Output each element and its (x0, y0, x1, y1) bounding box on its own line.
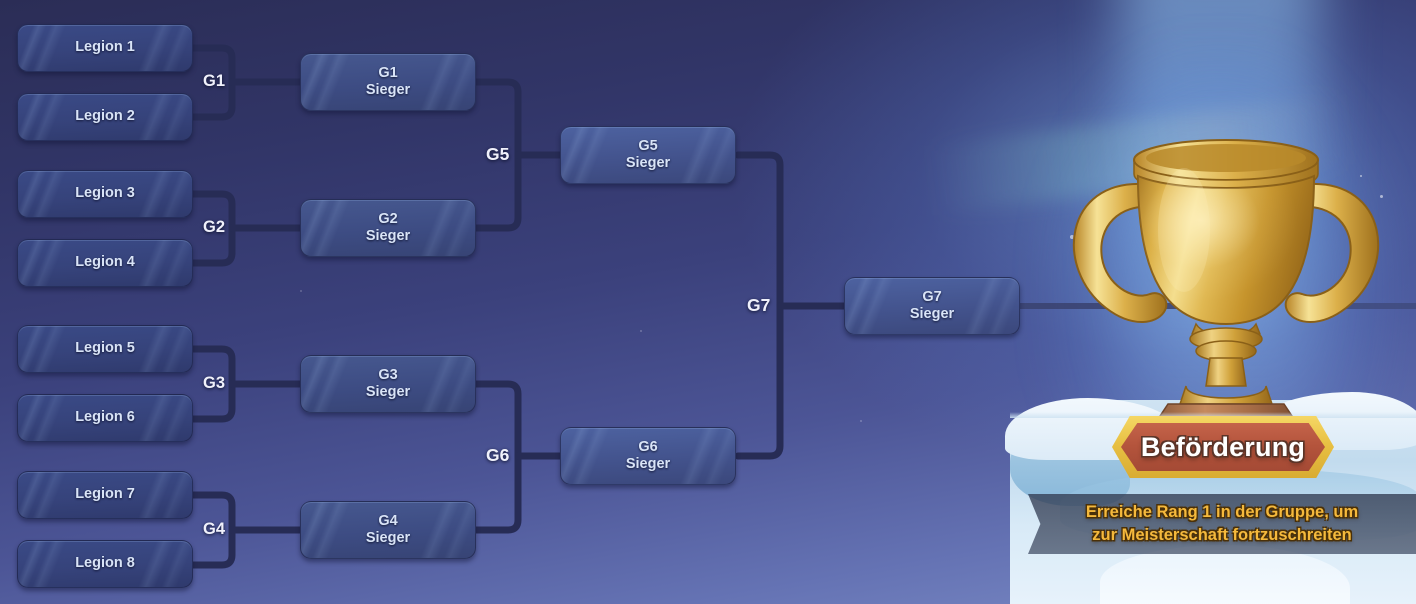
winner-box-g6[interactable]: G6 Sieger (560, 427, 736, 485)
winner-status-label: Sieger (366, 530, 410, 547)
match-label-g3: G3 (203, 374, 225, 393)
winner-status-label: Sieger (910, 306, 954, 323)
team-box-legion-4[interactable]: Legion 4 (17, 239, 193, 287)
winner-status-label: Sieger (626, 155, 670, 172)
team-label: Legion 5 (75, 340, 135, 357)
subtitle-line-2: zur Meisterschaft fortzuschreiten (1092, 524, 1351, 547)
team-box-legion-2[interactable]: Legion 2 (17, 93, 193, 141)
winner-box-g3[interactable]: G3 Sieger (300, 355, 476, 413)
team-box-legion-3[interactable]: Legion 3 (17, 170, 193, 218)
match-label-g7: G7 (747, 295, 770, 316)
winner-status-label: Sieger (366, 82, 410, 99)
winner-status-label: Sieger (366, 228, 410, 245)
team-box-legion-7[interactable]: Legion 7 (17, 471, 193, 519)
promotion-subtitle-ribbon: Erreiche Rang 1 in der Gruppe, um zur Me… (1028, 494, 1416, 554)
team-box-legion-6[interactable]: Legion 6 (17, 394, 193, 442)
sparkle-icon (300, 290, 302, 292)
winner-box-g1[interactable]: G1 Sieger (300, 53, 476, 111)
winner-box-g2[interactable]: G2 Sieger (300, 199, 476, 257)
team-box-legion-8[interactable]: Legion 8 (17, 540, 193, 588)
tournament-bracket-screen: Legion 1 Legion 2 Legion 3 Legion 4 Legi… (0, 0, 1416, 604)
winner-code-label: G4 (378, 513, 397, 530)
match-label-g2: G2 (203, 218, 225, 237)
promotion-banner: Beförderung (1112, 416, 1334, 478)
team-label: Legion 3 (75, 185, 135, 202)
team-label: Legion 8 (75, 555, 135, 572)
winner-code-label: G2 (378, 211, 397, 228)
team-box-legion-1[interactable]: Legion 1 (17, 24, 193, 72)
subtitle-line-1: Erreiche Rang 1 in der Gruppe, um (1086, 501, 1358, 524)
winner-status-label: Sieger (626, 456, 670, 473)
winner-status-label: Sieger (366, 384, 410, 401)
winner-code-label: G5 (638, 138, 657, 155)
winner-code-label: G7 (922, 289, 941, 306)
team-label: Legion 7 (75, 486, 135, 503)
winner-box-g4[interactable]: G4 Sieger (300, 501, 476, 559)
winner-box-g7[interactable]: G7 Sieger (844, 277, 1020, 335)
match-label-g4: G4 (203, 520, 225, 539)
winner-code-label: G1 (378, 65, 397, 82)
team-box-legion-5[interactable]: Legion 5 (17, 325, 193, 373)
gold-trophy-icon (1028, 62, 1416, 422)
sparkle-icon (640, 330, 642, 332)
team-label: Legion 1 (75, 39, 135, 56)
team-label: Legion 4 (75, 254, 135, 271)
team-label: Legion 6 (75, 409, 135, 426)
winner-code-label: G3 (378, 367, 397, 384)
sparkle-icon (860, 420, 862, 422)
banner-title: Beförderung (1112, 416, 1334, 478)
match-label-g1: G1 (203, 72, 225, 91)
winner-box-g5[interactable]: G5 Sieger (560, 126, 736, 184)
team-label: Legion 2 (75, 108, 135, 125)
match-label-g5: G5 (486, 144, 509, 165)
winner-code-label: G6 (638, 439, 657, 456)
match-label-g6: G6 (486, 445, 509, 466)
